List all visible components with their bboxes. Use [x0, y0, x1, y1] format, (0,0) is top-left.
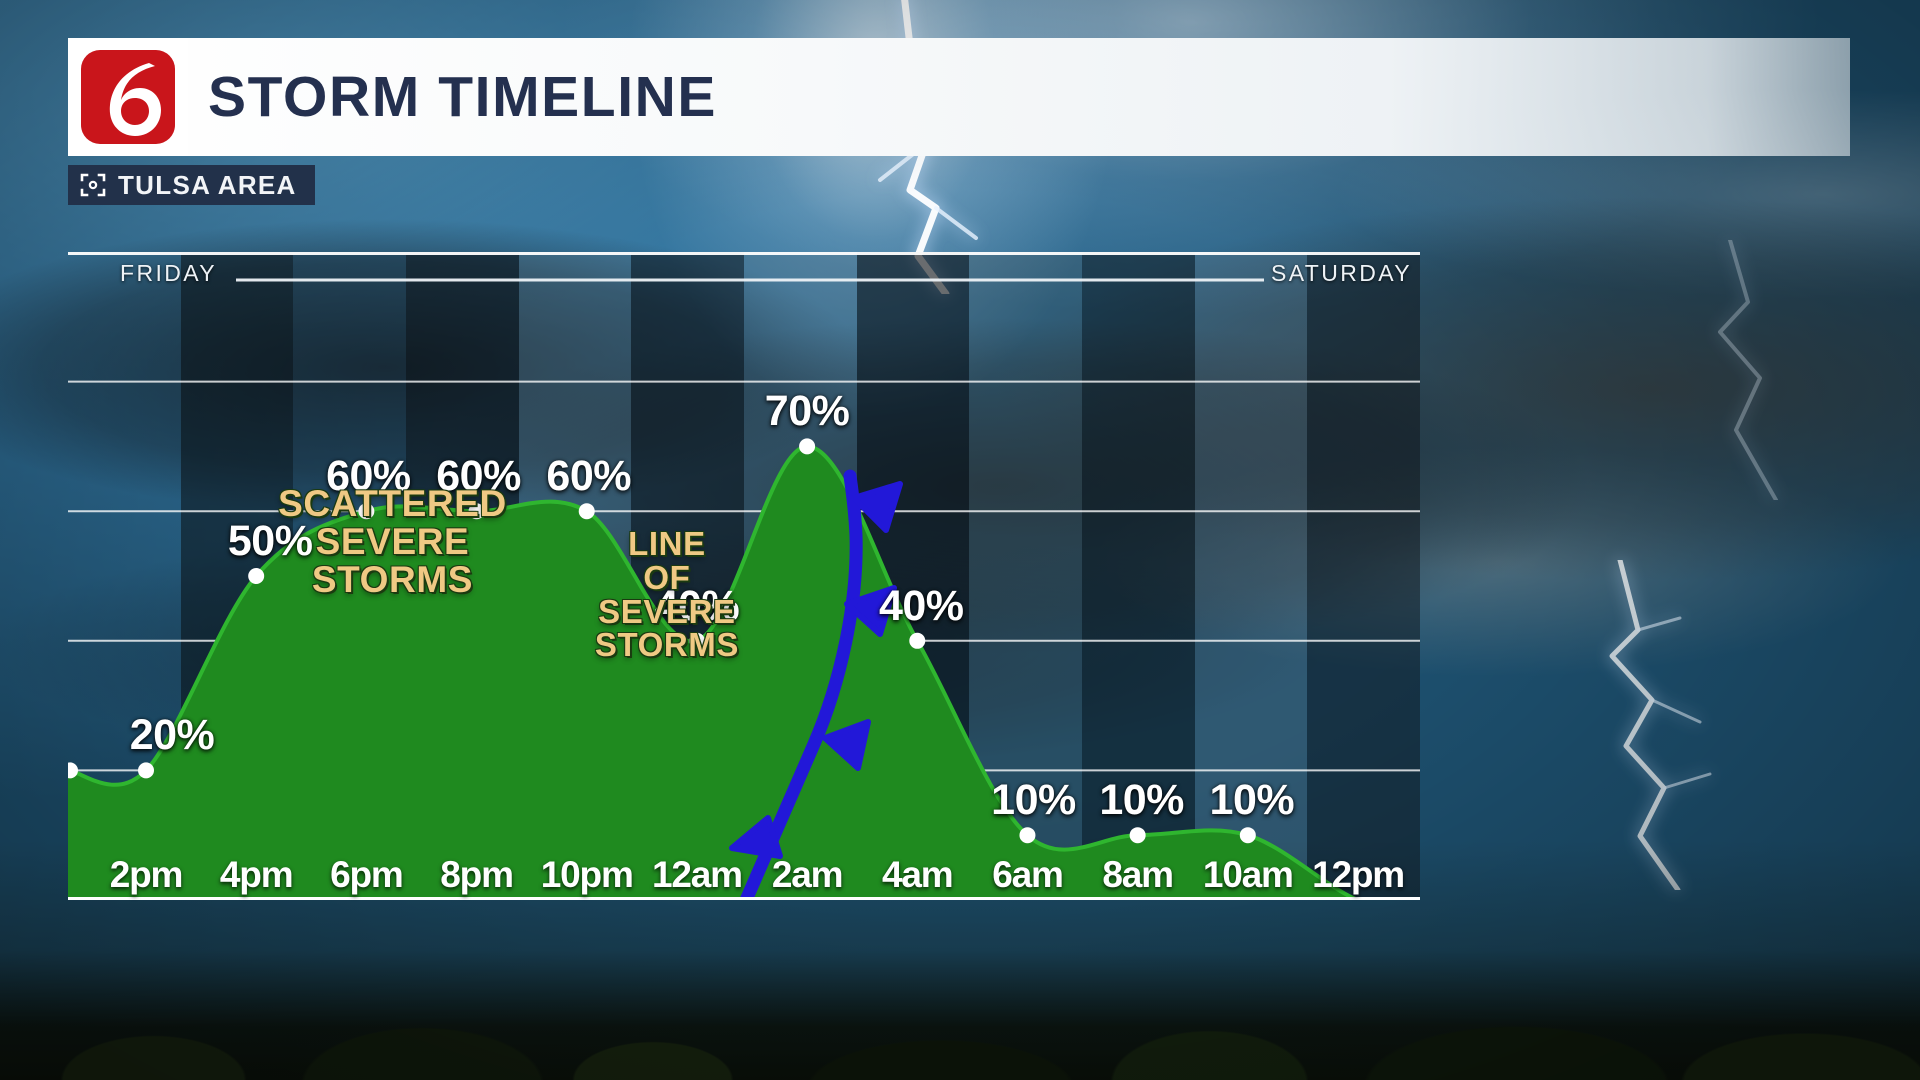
x-tick-10am: 10am: [1203, 856, 1293, 893]
value-label-10am: 10%: [1210, 779, 1295, 822]
line-of-severe-storms-line-4: STORMS: [595, 628, 739, 662]
x-tick-12am: 12am: [652, 856, 742, 893]
x-tick-8pm: 8pm: [440, 856, 512, 893]
scattered-severe-storms-line-2: SEVERE: [278, 523, 507, 561]
day-label-right: SATURDAY: [1271, 262, 1412, 285]
storm-timeline-chart: FRIDAY SATURDAY 20%50%60%60%60%40%70%40%…: [68, 252, 1420, 900]
value-label-4am: 40%: [879, 585, 964, 628]
line-of-severe-storms-line-3: SEVERE: [595, 595, 739, 629]
chart-x-axis: 2pm4pm6pm8pm10pm12am2am4am6am8am10am12pm: [68, 846, 1420, 902]
header-bar: STORM TIMELINE: [68, 38, 1850, 156]
region-label: TULSA AREA: [118, 172, 297, 198]
x-tick-8am: 8am: [1102, 856, 1172, 893]
axis-baseline: [68, 897, 1420, 900]
value-label-6am: 10%: [991, 779, 1076, 822]
scattered-severe-storms-line-3: STORMS: [278, 561, 507, 599]
x-tick-2pm: 2pm: [110, 856, 182, 893]
x-tick-10pm: 10pm: [541, 856, 633, 893]
x-tick-6pm: 6pm: [330, 856, 402, 893]
scattered-severe-storms-line-1: SCATTERED: [278, 485, 507, 523]
region-badge: TULSA AREA: [68, 165, 315, 205]
x-tick-2am: 2am: [772, 856, 842, 893]
location-target-icon: [80, 172, 106, 198]
page-title: STORM TIMELINE: [208, 69, 717, 126]
line-of-severe-storms-line-1: LINE: [595, 527, 739, 561]
x-tick-4am: 4am: [882, 856, 952, 893]
x-tick-4pm: 4pm: [220, 856, 292, 893]
storm-timeline-graphic: STORM TIMELINE TULSA AREA FRIDAY SATURDA…: [0, 0, 1920, 1080]
value-label-2pm: 20%: [130, 714, 215, 757]
x-tick-6am: 6am: [992, 856, 1062, 893]
x-tick-12pm: 12pm: [1312, 856, 1404, 893]
line-of-severe-storms-line-2: OF: [595, 561, 739, 595]
annotation-scattered-severe-storms: SCATTEREDSEVERESTORMS: [278, 485, 507, 598]
channel-6-logo-icon: [68, 38, 188, 156]
value-label-10pm: 60%: [546, 455, 631, 498]
annotation-line-of-severe-storms: LINEOFSEVERESTORMS: [595, 527, 739, 662]
day-label-left: FRIDAY: [120, 262, 217, 285]
value-label-8am: 10%: [1099, 779, 1184, 822]
value-label-2am: 70%: [765, 390, 850, 433]
